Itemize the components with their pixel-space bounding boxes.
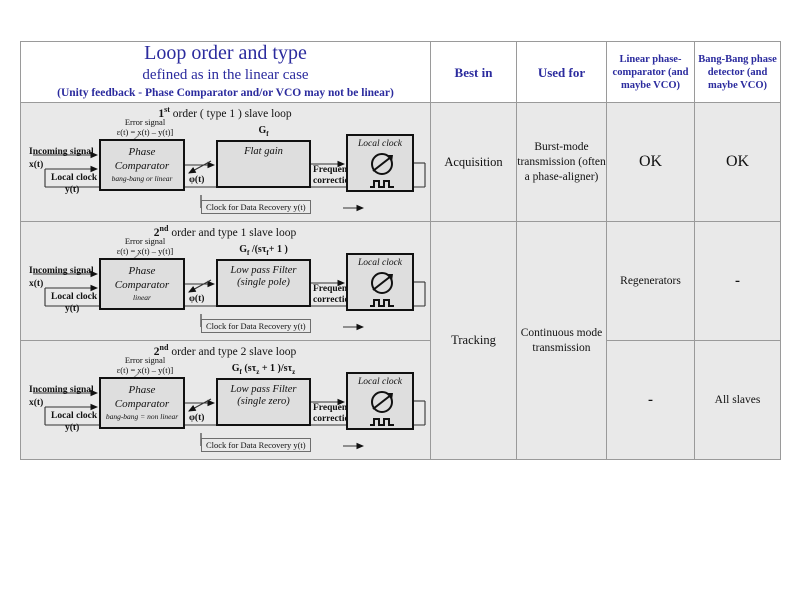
clock-for-data-recovery-label: Clock for Data Recovery y(t) [201,438,311,452]
table-row: 2nd order and type 2 slave loopIncoming … [21,341,781,460]
table-row: 1st order ( type 1 ) slave loopIncoming … [21,103,781,222]
local-clock-input-label: Local clock [51,173,97,184]
phase-comparator-line2: Comparator [101,160,183,172]
linear-value: Regenerators [607,274,694,289]
local-clock-input-label: Local clock [51,292,97,303]
vco-icon [348,270,416,312]
error-signal-label: Error signalε(t) = x(t) – y(t)] [99,236,191,256]
clock-for-data-recovery-label: Clock for Data Recovery y(t) [201,319,311,333]
local-clock-vco-block: Local clock [346,253,414,311]
bangbang-row3: All slaves [695,341,781,460]
filter-line1: Low pass Filter [218,265,309,276]
linear-value: OK [607,153,694,171]
header-best-in: Best in [431,42,517,103]
phase-comparator-line1: Phase [101,265,183,277]
linear-value: - [607,392,694,409]
loop-comparison-table: Loop order and type defined as in the li… [20,41,781,460]
phi-label: φ(t) [189,413,204,424]
incoming-signal-variable: x(t) [29,160,43,171]
diagram-title: 2nd order and type 2 slave loop [21,343,429,358]
header-title-cell: Loop order and type defined as in the li… [21,42,431,103]
phase-comparator-mode: bang-bang or linear [101,174,183,183]
title-line-2: defined as in the linear case [21,65,430,85]
clock-for-data-recovery-label: Clock for Data Recovery y(t) [201,200,311,214]
filter-line1: Low pass Filter [218,384,309,395]
local-clock-vco-block: Local clock [346,372,414,430]
table-header-row: Loop order and type defined as in the li… [21,42,781,103]
bangbang-value: All slaves [695,393,780,408]
phase-comparator-line2: Comparator [101,398,183,410]
incoming-signal-label: Incoming signal [29,266,94,277]
incoming-signal-variable: x(t) [29,398,43,409]
loop-filter-block: Low pass Filter(single pole) [216,259,311,307]
error-signal-label: Error signalε(t) = x(t) – y(t)] [99,117,191,137]
local-clock-label: Local clock [348,377,412,387]
loop-filter-block: Flat gain [216,140,311,188]
filter-line2: (single pole) [218,277,309,288]
best-in-row1: Acquisition [431,103,517,222]
best-in-value: Tracking [431,333,516,348]
phi-label: φ(t) [189,294,204,305]
local-clock-input-variable: y(t) [65,185,79,196]
local-clock-input-variable: y(t) [65,423,79,434]
gain-transfer-function: Gf (sτz + 1 )/sτz [216,363,311,376]
local-clock-label: Local clock [348,258,412,268]
block-diagram-2nd-order-type1: 2nd order and type 1 slave loopIncoming … [21,222,429,340]
diagram-cell-row2: 2nd order and type 1 slave loopIncoming … [21,222,431,341]
bangbang-value: OK [695,153,780,171]
error-signal-label: Error signalε(t) = x(t) – y(t)] [99,355,191,375]
incoming-signal-variable: x(t) [29,279,43,290]
used-for-value: Continuous mode transmission [517,326,606,356]
phase-comparator-block: PhaseComparatorbang-bang = non linear [99,377,185,429]
phase-comparator-line1: Phase [101,384,183,396]
diagram-title: 1st order ( type 1 ) slave loop [21,105,429,120]
phase-comparator-line1: Phase [101,146,183,158]
header-used-for-label: Used for [517,65,606,80]
header-best-in-label: Best in [431,65,516,80]
title-line-1: Loop order and type [21,42,430,65]
local-clock-vco-block: Local clock [346,134,414,192]
header-bang-bang-detector: Bang-Bang phase detector (and maybe VCO) [695,42,781,103]
phase-comparator-mode: linear [101,293,183,302]
filter-line2: (single zero) [218,396,309,407]
linear-row2: Regenerators [607,222,695,341]
local-clock-label: Local clock [348,139,412,149]
vco-icon [348,389,416,431]
loop-filter-block: Low pass Filter(single zero) [216,378,311,426]
linear-row1: OK [607,103,695,222]
local-clock-input-variable: y(t) [65,304,79,315]
used-for-row2: Continuous mode transmission [517,222,607,460]
header-linear-label: Linear phase-comparator (and maybe VCO) [607,53,694,92]
phase-comparator-mode: bang-bang = non linear [101,412,183,421]
slide-canvas: Loop order and type defined as in the li… [0,0,800,600]
bangbang-value: - [695,273,780,290]
bangbang-row2: - [695,222,781,341]
header-linear-phase-comparator: Linear phase-comparator (and maybe VCO) [607,42,695,103]
header-bangbang-label: Bang-Bang phase detector (and maybe VCO) [695,53,780,92]
header-used-for: Used for [517,42,607,103]
title-line-3: (Unity feedback - Phase Comparator and/o… [21,85,430,102]
used-for-value: Burst-mode transmission (often a phase-a… [517,140,606,185]
gain-transfer-function: Gf /(sτf+ 1 ) [216,244,311,257]
block-diagram-1st-order: 1st order ( type 1 ) slave loopIncoming … [21,103,429,221]
filter-line1: Flat gain [218,146,309,157]
linear-row3: - [607,341,695,460]
local-clock-input-label: Local clock [51,411,97,422]
phase-comparator-block: PhaseComparatorbang-bang or linear [99,139,185,191]
table-row: 2nd order and type 1 slave loopIncoming … [21,222,781,341]
diagram-cell-row1: 1st order ( type 1 ) slave loopIncoming … [21,103,431,222]
block-diagram-2nd-order-type2: 2nd order and type 2 slave loopIncoming … [21,341,429,459]
gain-transfer-function: Gf [216,125,311,138]
vco-icon [348,151,416,193]
diagram-cell-row3: 2nd order and type 2 slave loopIncoming … [21,341,431,460]
bangbang-row1: OK [695,103,781,222]
phase-comparator-block: PhaseComparatorlinear [99,258,185,310]
best-in-row2: Tracking [431,222,517,460]
diagram-title: 2nd order and type 1 slave loop [21,224,429,239]
phi-label: φ(t) [189,175,204,186]
best-in-value: Acquisition [431,155,516,170]
phase-comparator-line2: Comparator [101,279,183,291]
incoming-signal-label: Incoming signal [29,385,94,396]
incoming-signal-label: Incoming signal [29,147,94,158]
used-for-row1: Burst-mode transmission (often a phase-a… [517,103,607,222]
